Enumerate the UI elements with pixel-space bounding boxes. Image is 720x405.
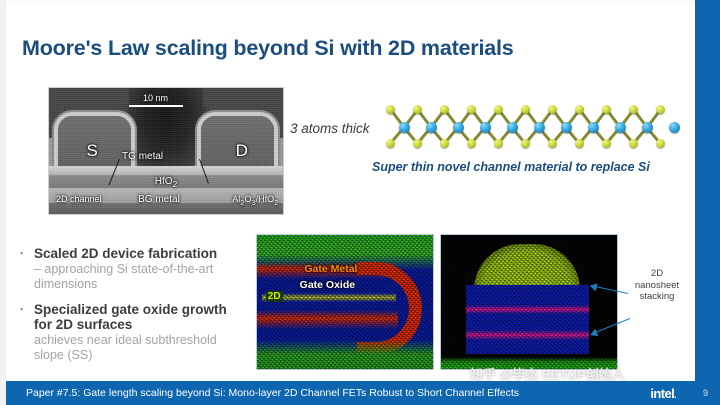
list-item: ▪ Scaled 2D device fabrication – approac… <box>20 246 245 293</box>
tem-label-top-gate-metal: TG metal <box>122 151 163 162</box>
chalcogen-atom <box>521 105 530 114</box>
metal-atom <box>561 122 572 133</box>
chalcogen-atom <box>440 139 449 148</box>
chalcogen-atom <box>386 139 395 148</box>
tem-cross-section-image: 10 nm S D TG metal HfO2 BG metal 2D chan… <box>48 87 284 215</box>
chalcogen-atom <box>602 105 611 114</box>
metal-atom <box>642 122 653 133</box>
metal-atom <box>399 122 410 133</box>
metal-atom <box>615 122 626 133</box>
atoms-bottom-caption: Super thin novel channel material to rep… <box>372 160 650 174</box>
metal-atom <box>534 122 545 133</box>
chalcogen-atom <box>575 139 584 148</box>
map-left-green-bottom <box>257 340 433 369</box>
chalcogen-atom <box>656 139 665 148</box>
map-label-gate-metal: Gate Metal <box>304 263 357 275</box>
map-right-magenta-band-upper <box>466 305 589 314</box>
tem-scale-label: 10 nm <box>143 93 168 103</box>
chalcogen-atom <box>494 105 503 114</box>
metal-atom <box>507 122 518 133</box>
chalcogen-atom <box>629 105 638 114</box>
tem-scale-bar-line <box>129 105 183 107</box>
bullet-heading: Scaled 2D device fabrication <box>34 246 245 262</box>
chalcogen-atom <box>656 105 665 114</box>
elemental-map-left: Gate Metal Gate Oxide 2D <box>256 234 434 370</box>
chalcogen-atom <box>467 105 476 114</box>
chalcogen-atom <box>440 105 449 114</box>
page-number: 9 <box>703 388 708 398</box>
elemental-map-right <box>440 234 618 370</box>
chalcogen-atom <box>413 105 422 114</box>
map-right-green-substrate <box>441 357 617 369</box>
tem-scale-bar-group: 10 nm <box>129 93 183 107</box>
slide-footer-bar: Paper #7.5: Gate length scaling beyond S… <box>6 381 720 405</box>
metal-atom <box>426 122 437 133</box>
intel-logo-text: intel <box>650 386 674 401</box>
chalcogen-atom <box>548 139 557 148</box>
chalcogen-atom <box>602 139 611 148</box>
tem-label-hfo2: HfO2 <box>155 176 177 189</box>
metal-atom <box>453 122 464 133</box>
slide-right-blue-rail <box>695 0 720 405</box>
map-right-blue-body <box>466 285 589 355</box>
list-item: ▪ Specialized gate oxide growth for 2D s… <box>20 302 245 364</box>
page-title: Moore's Law scaling beyond Si with 2D ma… <box>22 36 514 61</box>
map-right-magenta-band-lower <box>466 330 589 339</box>
slide-top-edge <box>0 0 720 5</box>
chalcogen-atom <box>413 139 422 148</box>
slide-left-edge <box>0 0 6 405</box>
bullet-marker-icon: ▪ <box>20 246 34 261</box>
chalcogen-atom <box>521 139 530 148</box>
tem-label-al2o3-hfo2: Al2O3/HfO2 <box>232 194 278 207</box>
bullet-body: Specialized gate oxide growth for 2D sur… <box>34 302 245 364</box>
slide-canvas: Moore's Law scaling beyond Si with 2D ma… <box>0 0 720 405</box>
footer-paper-reference: Paper #7.5: Gate length scaling beyond S… <box>26 387 519 399</box>
bullet-subtext: achieves near ideal subthreshold slope (… <box>34 333 245 364</box>
bullet-list: ▪ Scaled 2D device fabrication – approac… <box>20 246 245 373</box>
chalcogen-atom <box>548 105 557 114</box>
tem-label-source: S <box>86 141 97 161</box>
chalcogen-atom <box>494 139 503 148</box>
metal-atom <box>480 122 491 133</box>
tem-label-2d-channel: 2D channel <box>56 194 102 204</box>
chalcogen-atom <box>575 105 584 114</box>
atoms-thickness-caption: 3 atoms thick <box>290 121 370 136</box>
bullet-body: Scaled 2D device fabrication – approachi… <box>34 246 245 293</box>
map-label-gate-oxide: Gate Oxide <box>300 279 355 291</box>
metal-atom <box>669 122 680 133</box>
tem-label-drain: D <box>236 141 248 161</box>
intel-logo: intel. <box>650 386 676 401</box>
map-right-green-dome <box>474 244 580 290</box>
bullet-heading: Specialized gate oxide growth for 2D sur… <box>34 302 245 333</box>
chalcogen-atom <box>386 105 395 114</box>
intel-logo-dot: . <box>674 390 676 400</box>
tem-label-back-gate-metal: BG metal <box>138 194 180 205</box>
chalcogen-atom <box>629 139 638 148</box>
metal-atom <box>588 122 599 133</box>
chalcogen-atom <box>467 139 476 148</box>
nanosheet-stacking-annotation: 2D nanosheet stacking <box>628 268 686 303</box>
atomic-structure-figure: 3 atoms thick Super thin novel channel m… <box>290 105 675 185</box>
atom-chain-diagram <box>394 105 672 153</box>
map-left-red-band-lower <box>257 310 398 329</box>
map-label-2d: 2D <box>266 291 283 302</box>
bullet-marker-icon: ▪ <box>20 302 34 317</box>
bullet-subtext: – approaching Si state-of-the-art dimens… <box>34 262 245 293</box>
